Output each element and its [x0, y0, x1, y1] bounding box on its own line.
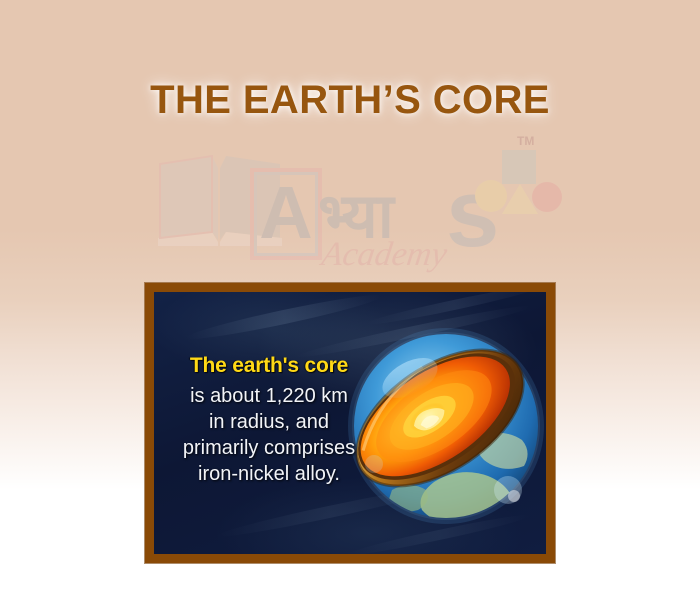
- open-book-icon: [156, 154, 284, 246]
- caption-line: is about 1,220 km: [160, 383, 378, 409]
- caption-heading: The earth's core: [160, 354, 378, 378]
- image-frame: The earth's core is about 1,220 km in ra…: [145, 283, 555, 563]
- watermark-letter-frame-outer: [250, 168, 322, 260]
- abhyas-academy-watermark: A भ्या s Academy TM: [150, 132, 570, 287]
- watermark-trademark: TM: [517, 134, 534, 148]
- watermark-devanagari: भ्या: [318, 172, 392, 256]
- watermark-red-circle-shape: [532, 182, 562, 212]
- watermark-letter-s: s: [446, 166, 499, 262]
- earth-core-infographic: The earth's core is about 1,220 km in ra…: [154, 292, 546, 554]
- watermark-yellow-circle-shape: [475, 180, 507, 212]
- watermark-triangle-shape: [502, 184, 538, 214]
- infographic-caption: The earth's core is about 1,220 km in ra…: [160, 354, 378, 487]
- page-title: THE EARTH’S CORE: [0, 78, 700, 123]
- caption-line: primarily comprises: [160, 435, 378, 461]
- page-root: A भ्या s Academy TM THE EARTH’S CORE: [0, 0, 700, 600]
- watermark-letter-frame-inner: [254, 172, 318, 256]
- watermark-square-shape: [502, 150, 536, 184]
- caption-line: iron-nickel alloy.: [160, 461, 378, 487]
- watermark-letter-a: A: [254, 170, 318, 256]
- caption-body: is about 1,220 km in radius, and primari…: [160, 383, 378, 487]
- watermark-tagline: Academy: [319, 236, 449, 274]
- caption-line: in radius, and: [160, 409, 378, 435]
